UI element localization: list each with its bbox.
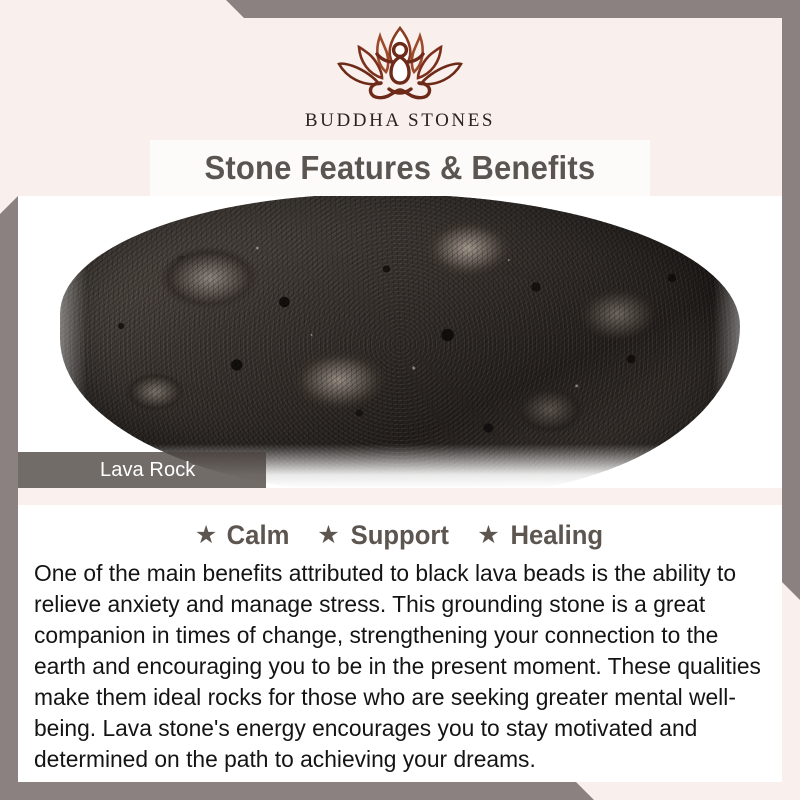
title-banner: Stone Features & Benefits (150, 140, 650, 196)
star-icon: ★ (477, 523, 499, 548)
frame-band-bottom (0, 782, 800, 800)
section-separator (18, 488, 782, 505)
star-icon: ★ (317, 523, 339, 548)
star-icon: ★ (195, 523, 217, 548)
brand-logo: BUDDHA STONES (0, 0, 800, 140)
poster: BUDDHA STONES Stone Features & Benefits … (0, 0, 800, 800)
benefit-label: Support (350, 520, 448, 551)
benefit-item-support: ★ Support (317, 520, 451, 551)
description-text: One of the main benefits attributed to b… (34, 558, 763, 775)
stone-name-label: Lava Rock (18, 459, 195, 482)
benefit-item-healing: ★ Healing (477, 520, 605, 551)
benefit-item-calm: ★ Calm (195, 520, 291, 551)
benefits-row: ★ Calm ★ Support ★ Healing (18, 512, 782, 558)
benefit-label: Healing (510, 520, 603, 551)
page-title: Stone Features & Benefits (205, 149, 596, 187)
lotus-meditation-figure-icon (325, 20, 475, 108)
benefit-label: Calm (227, 520, 290, 551)
brand-wordmark: BUDDHA STONES (305, 110, 495, 132)
stone-name-strip: Lava Rock (18, 452, 266, 488)
stone-photo (18, 196, 782, 488)
frame-band-left (0, 196, 18, 800)
